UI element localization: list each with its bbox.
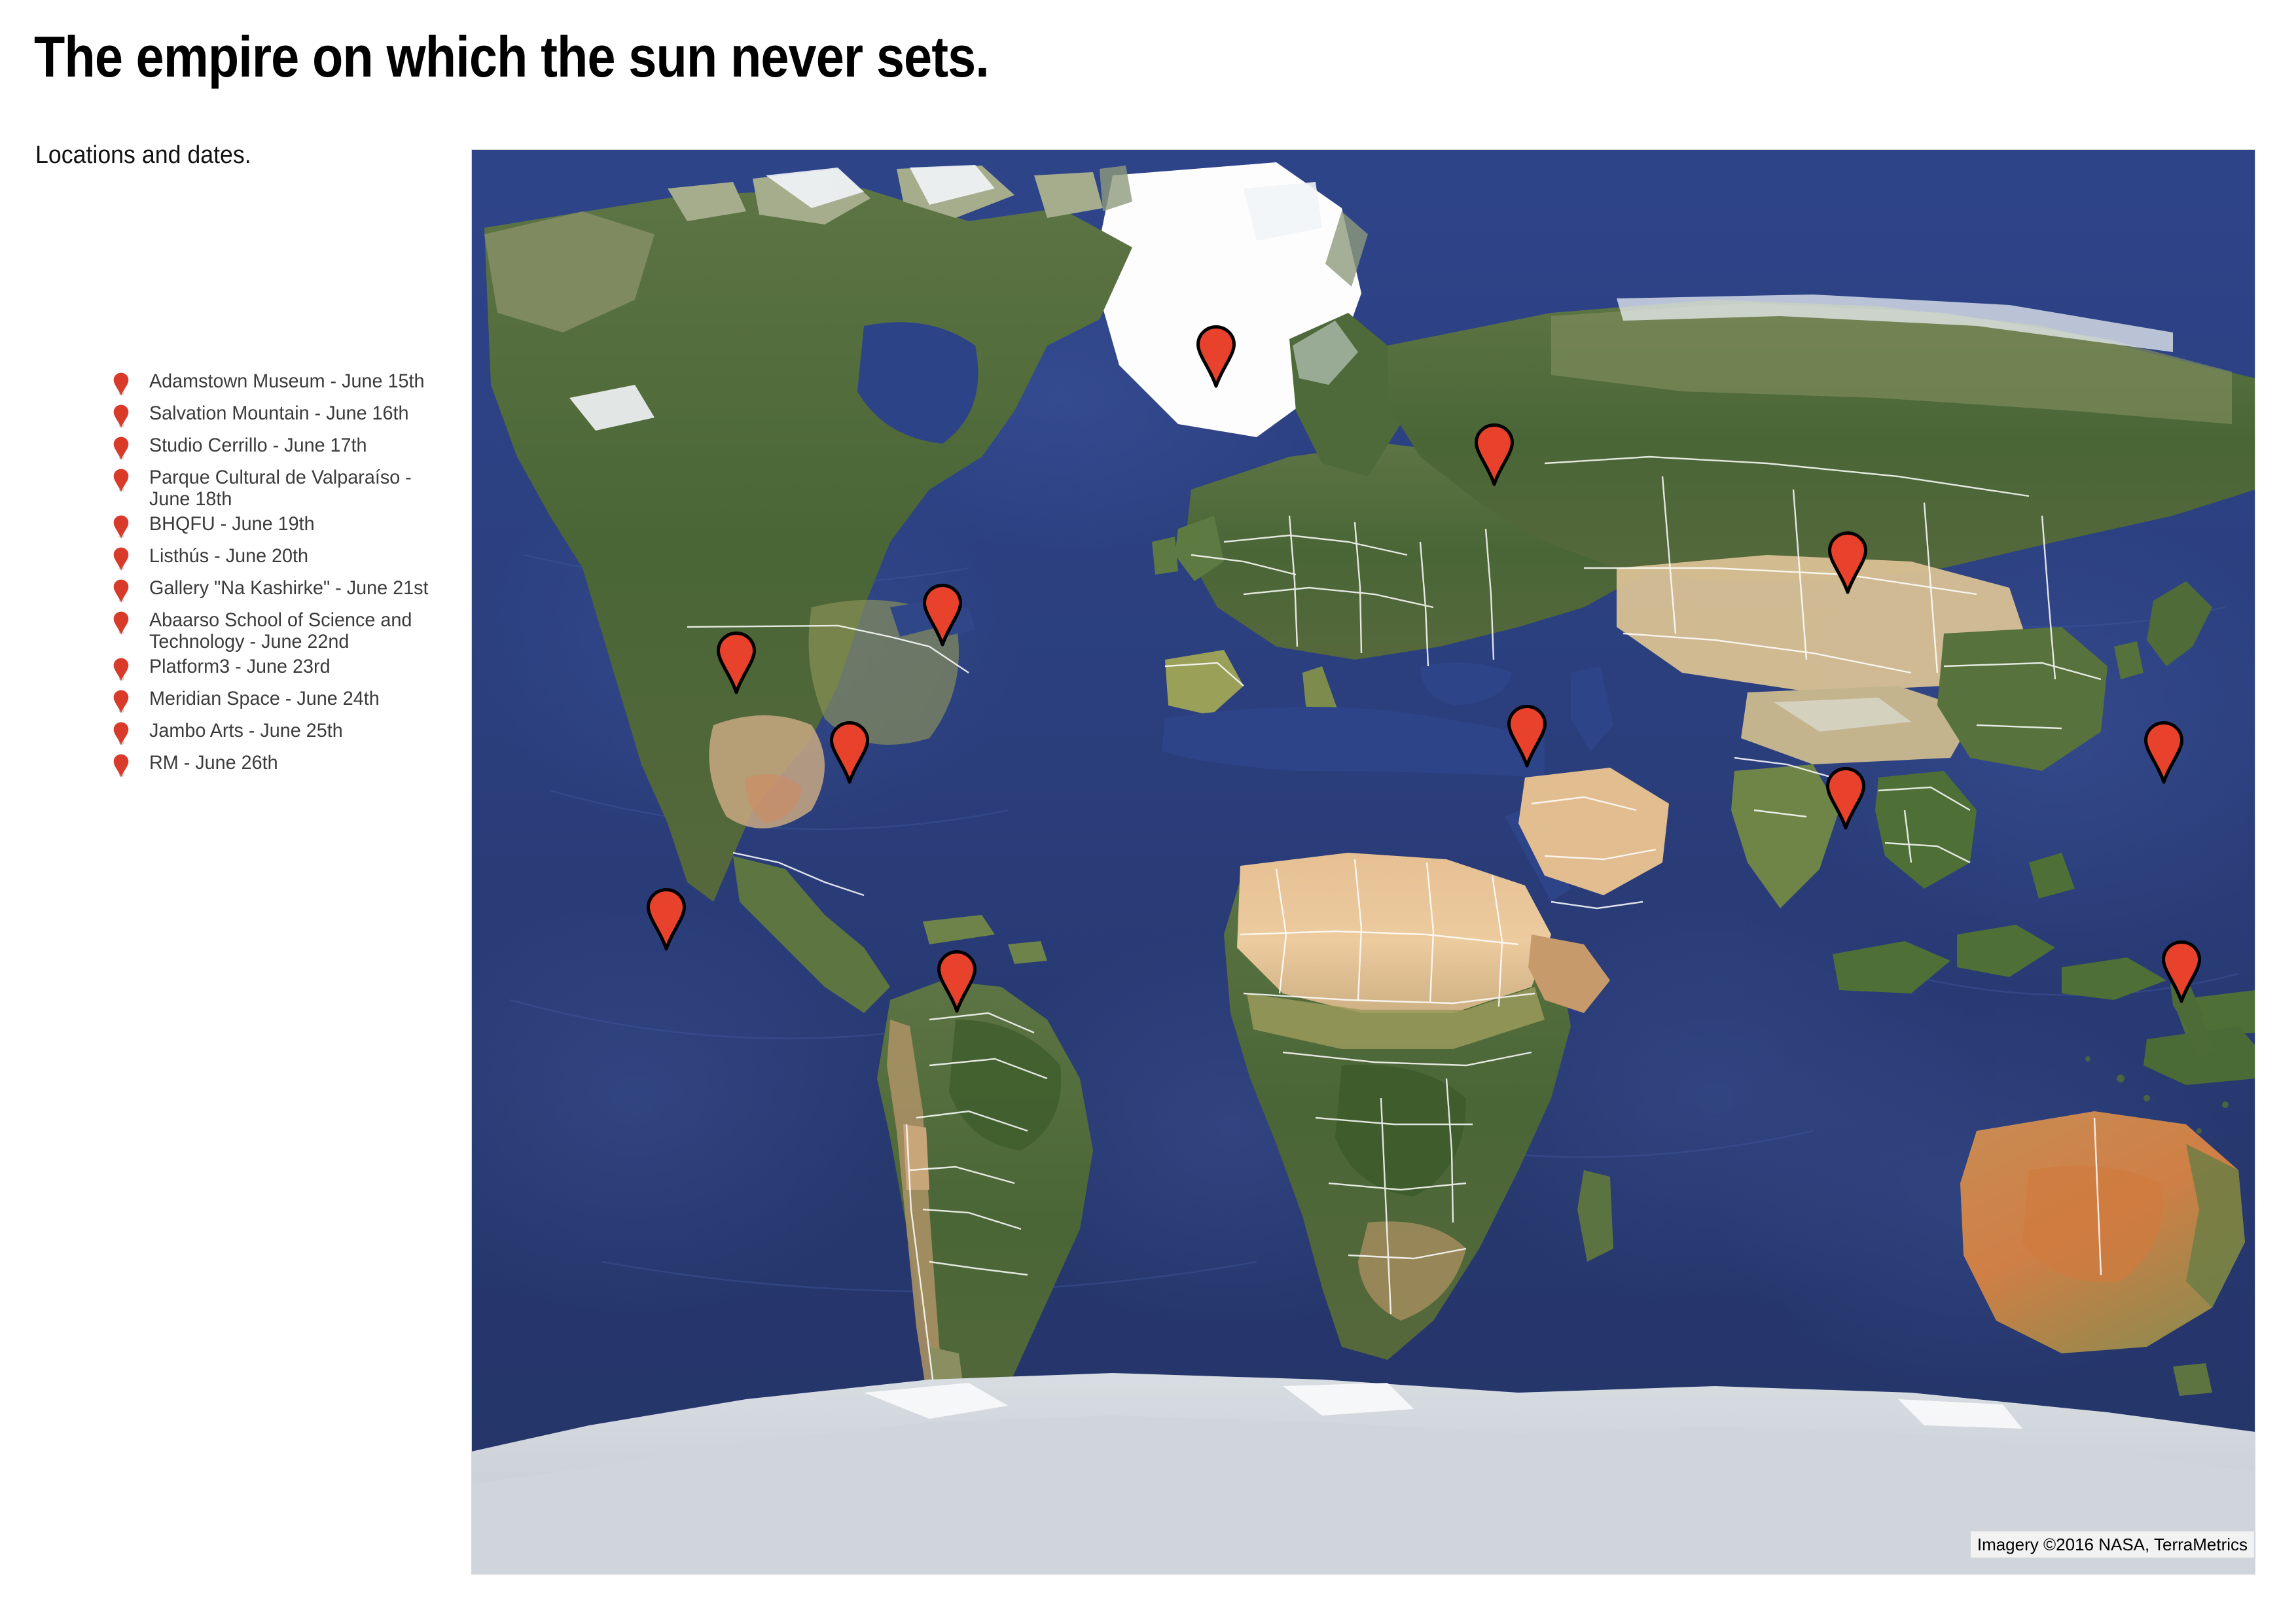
map-pin-icon	[113, 546, 130, 571]
legend-item-label: Studio Cerrillo - June 17th	[149, 435, 452, 456]
map-marker[interactable]	[1825, 767, 1866, 833]
map-marker[interactable]	[1507, 705, 1547, 771]
map-pin-icon	[2144, 721, 2184, 784]
map-page: The empire on which the sun never sets. …	[0, 0, 2296, 1623]
map-pin-icon	[113, 436, 130, 461]
map-pin-icon	[113, 753, 130, 778]
map-pin-icon	[113, 657, 130, 682]
map-pin-icon	[113, 372, 130, 397]
map-pin-icon	[113, 372, 130, 397]
map-pin-icon	[2161, 940, 2202, 1003]
map-pin-icon	[113, 468, 130, 493]
map-marker[interactable]	[922, 584, 963, 650]
map-pin-icon	[113, 657, 130, 682]
map-pin-icon	[829, 721, 870, 784]
map-marker[interactable]	[937, 950, 977, 1016]
map-marker[interactable]	[646, 888, 687, 954]
legend-item-label: Parque Cultural de Valparaíso - June 18t…	[149, 467, 452, 510]
map-pin-icon	[113, 404, 130, 429]
map-pin-icon	[113, 468, 130, 493]
map-pin-icon	[113, 689, 130, 714]
page-subtitle: Locations and dates.	[35, 141, 251, 169]
map-marker[interactable]	[1196, 325, 1236, 391]
map-marker[interactable]	[2144, 721, 2184, 787]
legend-item-label: Meridian Space - June 24th	[149, 688, 452, 709]
map-pin-icon	[113, 721, 130, 746]
map-marker[interactable]	[829, 721, 870, 787]
legend-item-label: Jambo Arts - June 25th	[149, 720, 452, 741]
map-pin-icon	[113, 611, 130, 635]
legend-item[interactable]: Jambo Arts - June 25th	[113, 720, 459, 749]
page-title: The empire on which the sun never sets.	[34, 24, 989, 90]
map-marker[interactable]	[716, 632, 757, 698]
map-marker[interactable]	[2161, 940, 2202, 1007]
map-pin-icon	[1196, 325, 1236, 388]
legend-item[interactable]: BHQFU - June 19th	[113, 513, 459, 542]
legend-item-label: BHQFU - June 19th	[149, 513, 452, 535]
location-legend: Adamstown Museum - June 15th Salvation M…	[113, 370, 459, 784]
map-pin-icon	[922, 584, 963, 647]
map-pin-icon	[1825, 767, 1866, 830]
map-pin-icon	[113, 579, 130, 603]
map-pin-icon	[113, 689, 130, 714]
map-pin-icon	[113, 721, 130, 746]
map-pin-icon	[113, 546, 130, 571]
legend-item[interactable]: Listhús - June 20th	[113, 545, 459, 574]
legend-item-label: Gallery "Na Kashirke" - June 21st	[149, 577, 452, 599]
map-pin-icon	[113, 514, 130, 539]
map-pin-icon	[1507, 705, 1547, 768]
legend-item-label: Salvation Mountain - June 16th	[149, 402, 452, 424]
map-pin-icon	[113, 514, 130, 539]
legend-item[interactable]: Salvation Mountain - June 16th	[113, 402, 459, 431]
legend-item-label: RM - June 26th	[149, 752, 452, 774]
legend-item[interactable]: Meridian Space - June 24th	[113, 688, 459, 717]
legend-item[interactable]: Abaarso School of Science and Technology…	[113, 609, 459, 652]
map-pin-icon	[113, 436, 130, 461]
legend-item[interactable]: Gallery "Na Kashirke" - June 21st	[113, 577, 459, 606]
legend-item[interactable]: Studio Cerrillo - June 17th	[113, 435, 459, 463]
map-pin-icon	[646, 888, 687, 951]
map-pin-icon	[1827, 531, 1868, 594]
map-marker[interactable]	[1827, 531, 1868, 597]
map-imagery	[471, 149, 2255, 1575]
legend-item-label: Adamstown Museum - June 15th	[149, 370, 452, 392]
map-pin-icon	[113, 611, 130, 635]
map-attribution: Imagery ©2016 NASA, TerraMetrics	[1971, 1531, 2254, 1558]
map-pin-icon	[716, 632, 757, 694]
legend-item-label: Listhús - June 20th	[149, 545, 452, 567]
map-pin-icon	[113, 753, 130, 778]
legend-item-label: Abaarso School of Science and Technology…	[149, 609, 452, 652]
map-pin-icon	[113, 404, 130, 429]
map-marker[interactable]	[1474, 423, 1515, 490]
map-pin-icon	[113, 579, 130, 603]
legend-item[interactable]: Platform3 - June 23rd	[113, 656, 459, 685]
legend-item-label: Platform3 - June 23rd	[149, 656, 452, 677]
legend-item[interactable]: Parque Cultural de Valparaíso - June 18t…	[113, 467, 459, 510]
world-map[interactable]: Imagery ©2016 NASA, TerraMetrics	[471, 149, 2255, 1575]
legend-item[interactable]: RM - June 26th	[113, 752, 459, 781]
map-pin-icon	[937, 950, 977, 1013]
map-pin-icon	[1474, 423, 1515, 486]
legend-item[interactable]: Adamstown Museum - June 15th	[113, 370, 459, 399]
